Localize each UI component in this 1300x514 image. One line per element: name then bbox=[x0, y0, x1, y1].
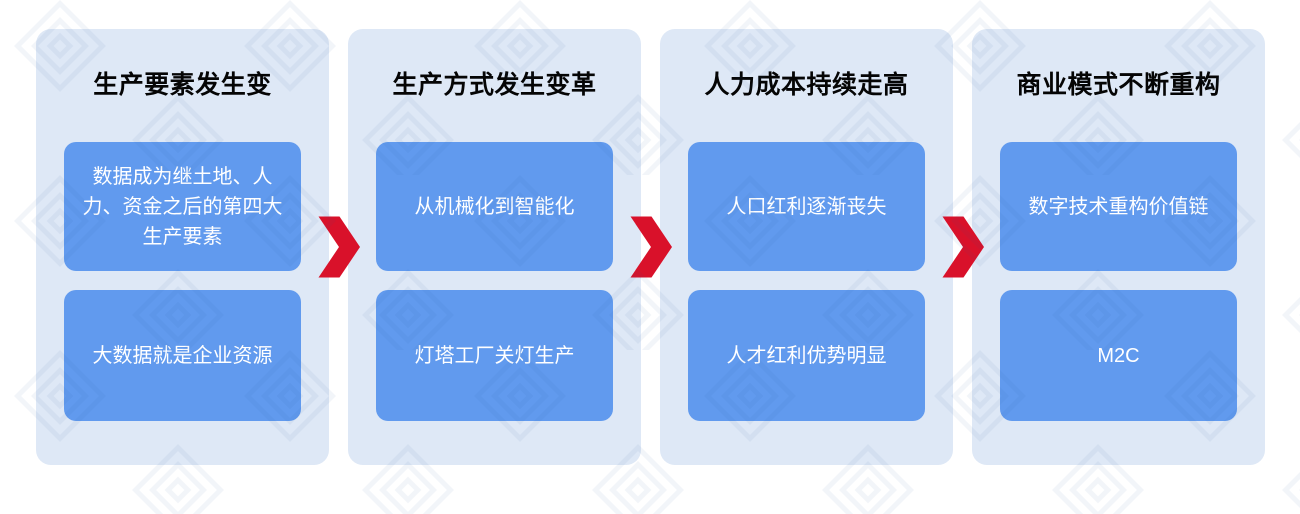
stage-title-4: 商业模式不断重构 bbox=[972, 70, 1265, 100]
stage-panel-3[interactable]: 人力成本持续走高 人口红利逐渐丧失 人才红利优势明显 bbox=[660, 29, 953, 465]
stage-title-1: 生产要素发生变 bbox=[36, 70, 329, 100]
stage-4-card-1-label: 数字技术重构价值链 bbox=[1012, 192, 1225, 222]
stage-panel-1[interactable]: 生产要素发生变 数据成为继土地、人力、资金之后的第四大生产要素 大数据就是企业资… bbox=[36, 29, 329, 465]
stage-2-card-2[interactable]: 灯塔工厂关灯生产 bbox=[376, 290, 613, 421]
connector-3 bbox=[953, 29, 972, 465]
stage-4-card-1[interactable]: 数字技术重构价值链 bbox=[1000, 142, 1237, 271]
process-flow-diagram: 生产要素发生变 数据成为继土地、人力、资金之后的第四大生产要素 大数据就是企业资… bbox=[0, 0, 1300, 514]
stage-1-card-1-label: 数据成为继土地、人力、资金之后的第四大生产要素 bbox=[76, 162, 289, 252]
stage-title-3: 人力成本持续走高 bbox=[660, 70, 953, 100]
stage-3-card-2-label: 人才红利优势明显 bbox=[700, 341, 913, 371]
stage-4-card-2-label: M2C bbox=[1012, 341, 1225, 371]
stage-4-card-2[interactable]: M2C bbox=[1000, 290, 1237, 421]
connector-2 bbox=[641, 29, 660, 465]
chevron-right-arrow-icon-1 bbox=[317, 215, 361, 279]
connector-1 bbox=[329, 29, 348, 465]
stage-2-card-2-label: 灯塔工厂关灯生产 bbox=[388, 341, 601, 371]
chevron-right-arrow-icon-2 bbox=[629, 215, 673, 279]
stage-3-card-1[interactable]: 人口红利逐渐丧失 bbox=[688, 142, 925, 271]
stage-panel-4[interactable]: 商业模式不断重构 数字技术重构价值链 M2C bbox=[972, 29, 1265, 465]
stage-1-card-2[interactable]: 大数据就是企业资源 bbox=[64, 290, 301, 421]
stage-2-card-1[interactable]: 从机械化到智能化 bbox=[376, 142, 613, 271]
stage-2-card-1-label: 从机械化到智能化 bbox=[388, 192, 601, 222]
stage-title-2: 生产方式发生变革 bbox=[348, 70, 641, 100]
stage-3-card-1-label: 人口红利逐渐丧失 bbox=[700, 192, 913, 222]
stage-3-card-2[interactable]: 人才红利优势明显 bbox=[688, 290, 925, 421]
stage-1-card-1[interactable]: 数据成为继土地、人力、资金之后的第四大生产要素 bbox=[64, 142, 301, 271]
stage-1-card-2-label: 大数据就是企业资源 bbox=[76, 341, 289, 371]
stage-row: 生产要素发生变 数据成为继土地、人力、资金之后的第四大生产要素 大数据就是企业资… bbox=[36, 29, 1264, 465]
stage-panel-2[interactable]: 生产方式发生变革 从机械化到智能化 灯塔工厂关灯生产 bbox=[348, 29, 641, 465]
chevron-right-arrow-icon-3 bbox=[941, 215, 985, 279]
